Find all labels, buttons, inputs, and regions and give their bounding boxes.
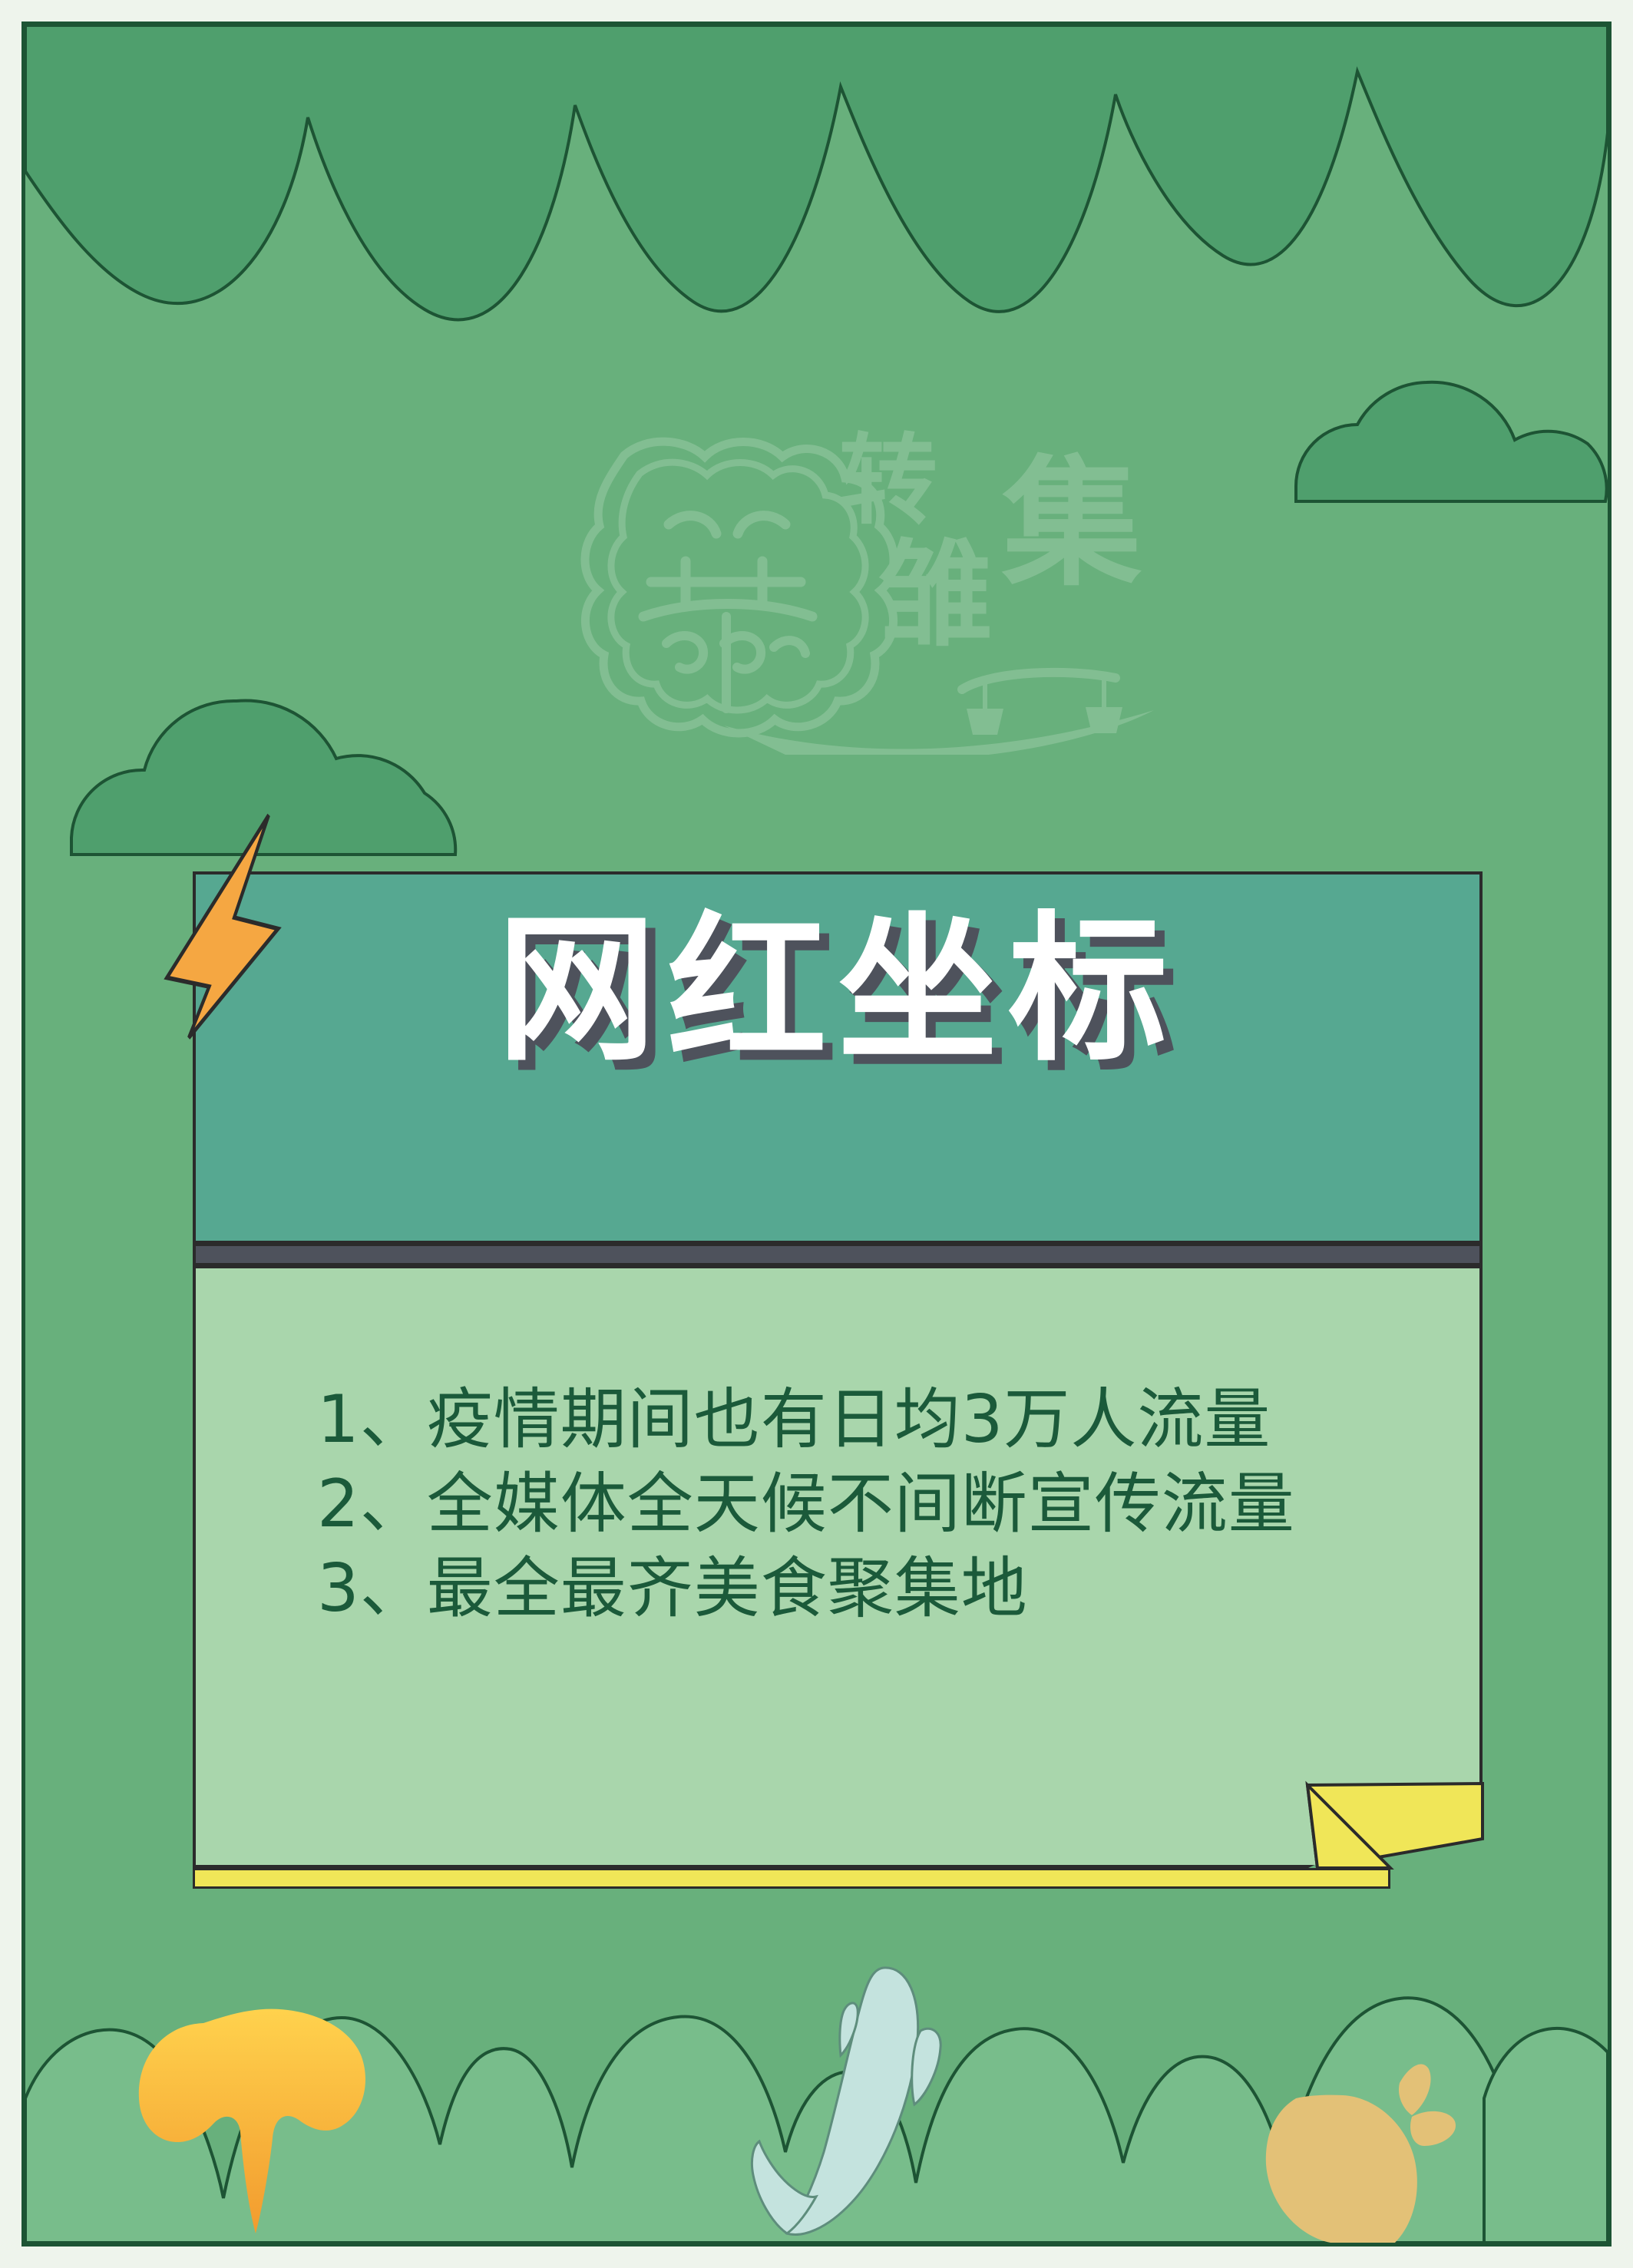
- poster-panel: 转 雏 集: [21, 21, 1612, 2247]
- watermark-char-zhuan: 转: [839, 432, 937, 531]
- page-fold-corner-icon: [193, 871, 1483, 1886]
- brand-watermark: 转 雏 集: [532, 425, 1154, 755]
- lightning-bolt-icon: [148, 801, 325, 1046]
- poster-root: 转 雏 集: [0, 0, 1633, 2268]
- watermark-char-chu: 雏: [878, 538, 993, 653]
- watermark-char-ji: 集: [1002, 454, 1142, 593]
- info-card: 网红坐标 1、疫情期间也有日均3万人流量 2、全媒体全天候不间断宣传流量 3、最…: [193, 871, 1483, 1886]
